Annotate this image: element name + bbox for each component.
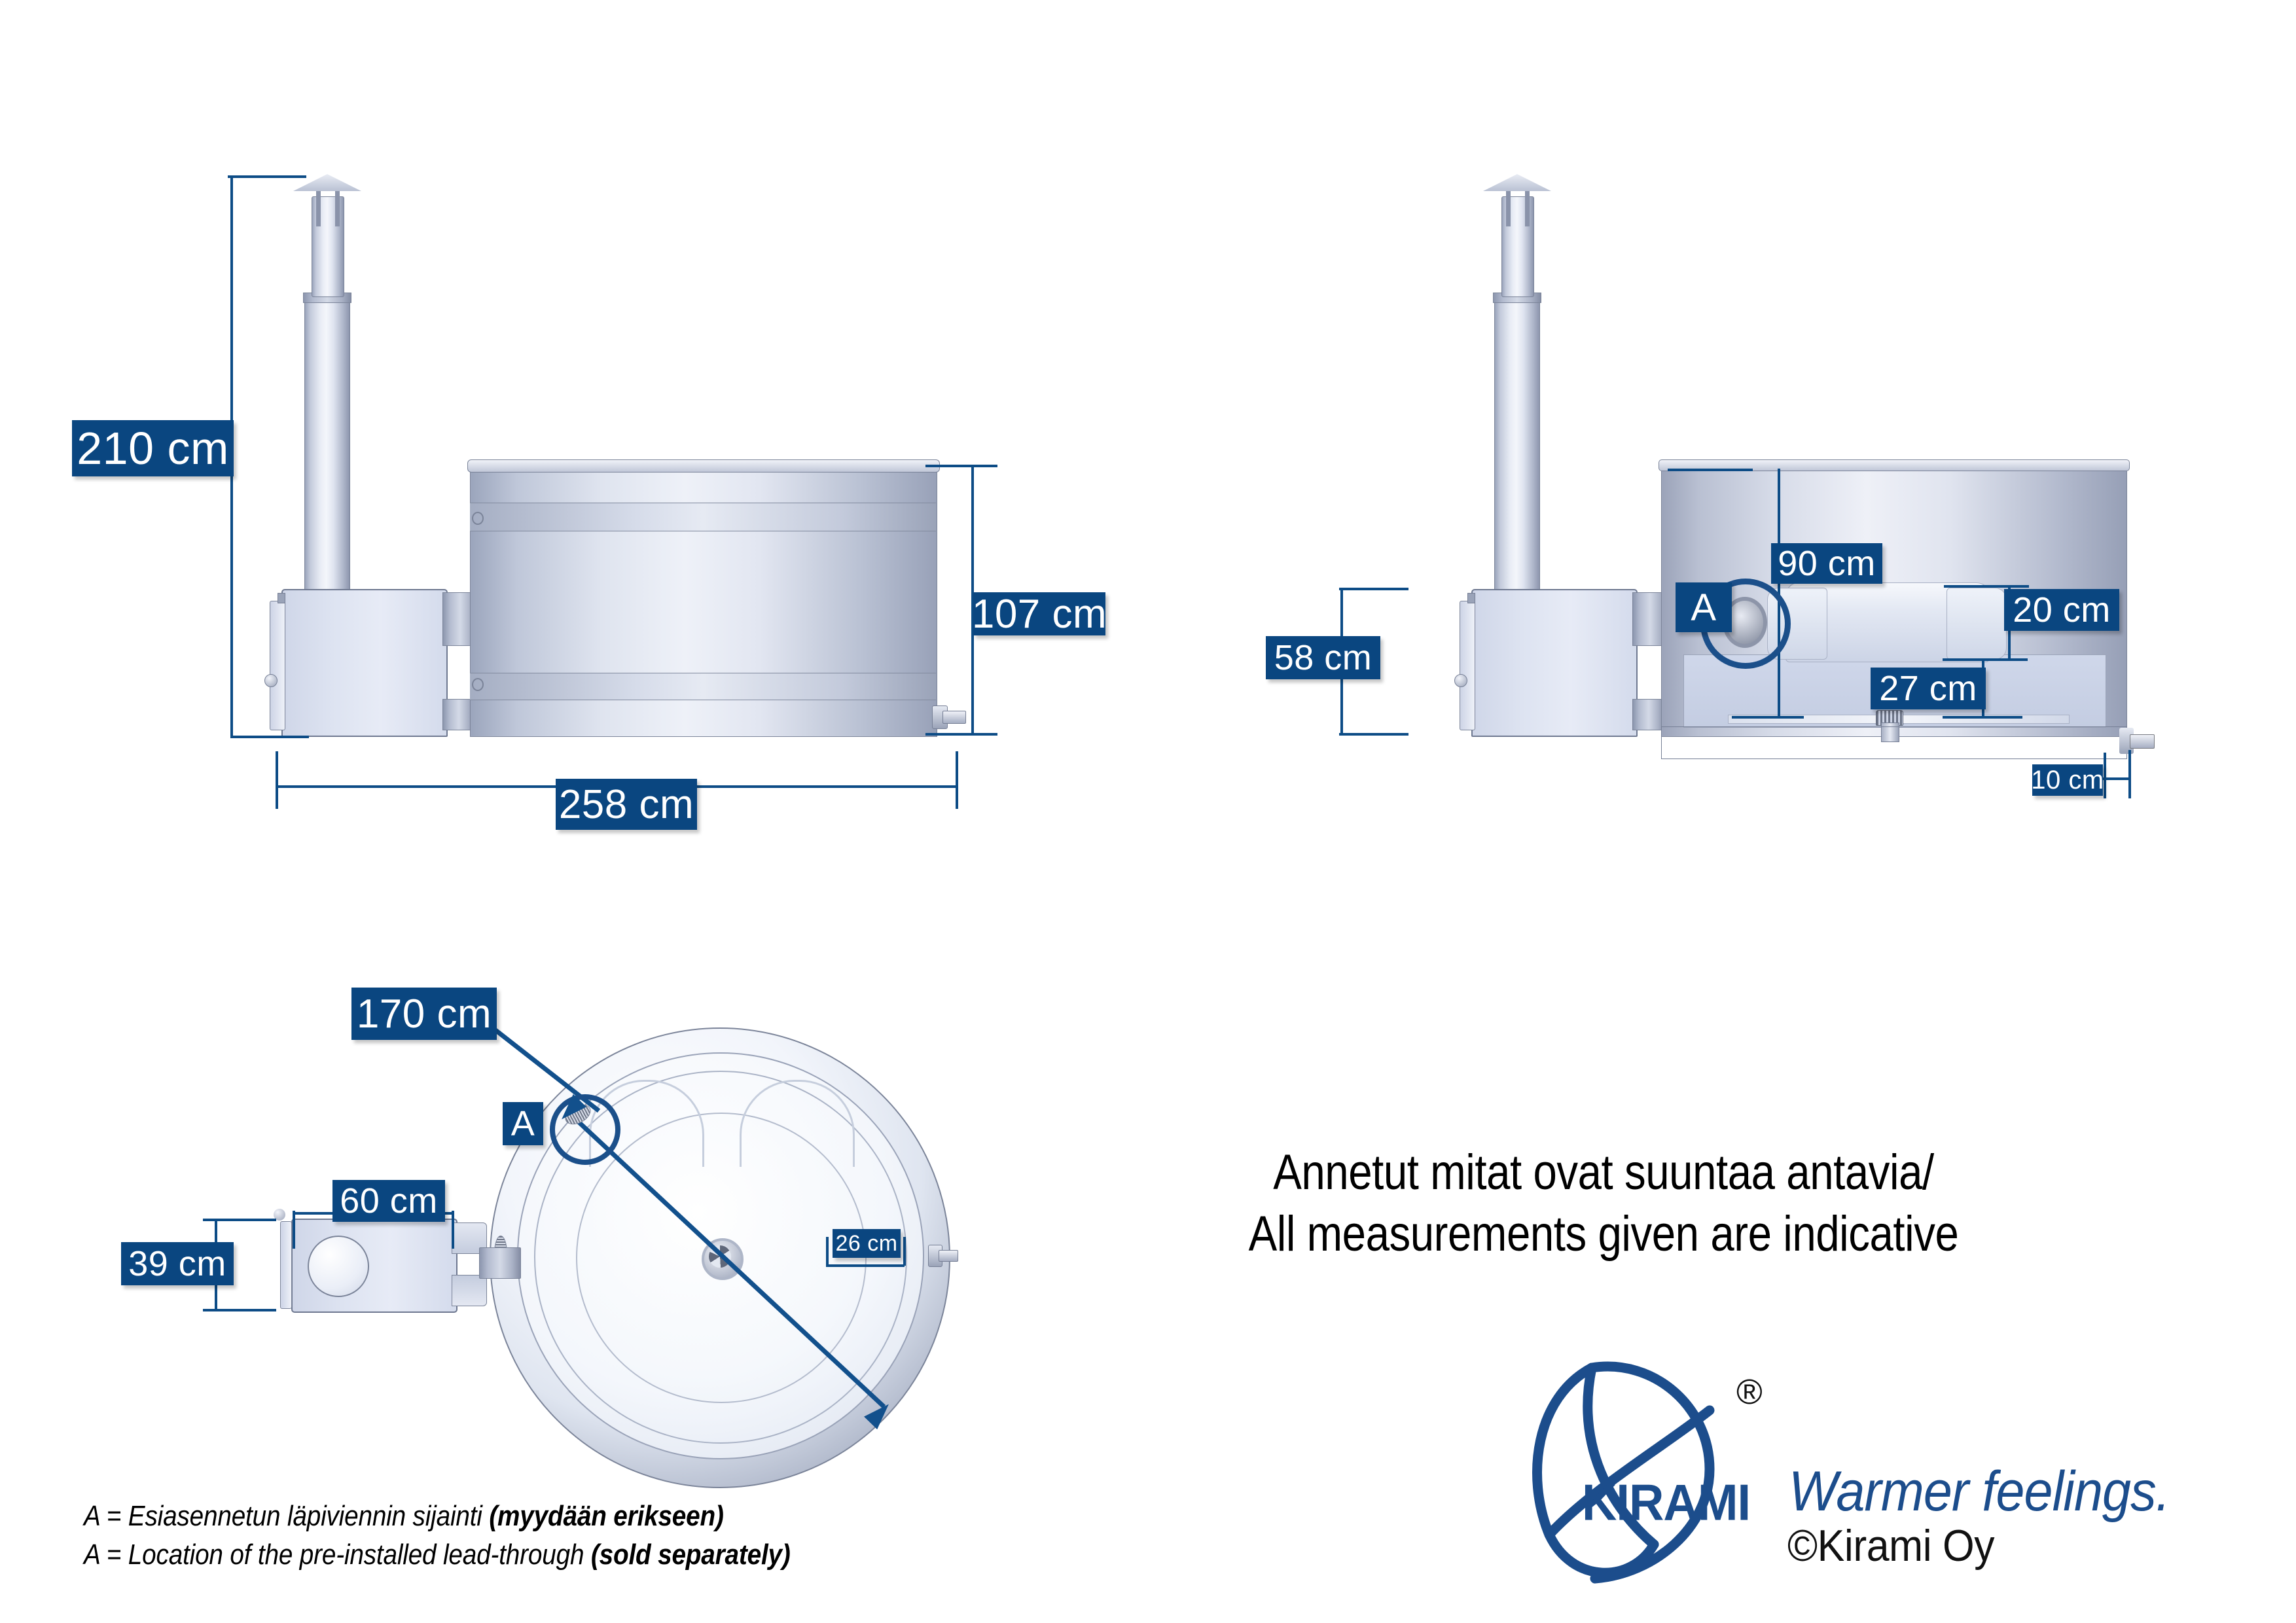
dim-26-left-ext	[826, 1237, 829, 1266]
section-heater-firebox	[1471, 589, 1638, 737]
plan-connecting-pipe	[479, 1247, 521, 1279]
tub-band-fastener-bottom	[472, 678, 484, 691]
drawing-canvas: 210 cm 107 cm 258 cm	[0, 0, 2296, 1623]
heater-top-pin	[278, 593, 285, 603]
legend-fi-text: A = Esiasennetun läpiviennin sijainti	[84, 1500, 489, 1532]
legend-block: A = Esiasennetun läpiviennin sijainti (m…	[84, 1497, 948, 1575]
dim-90-bottom-tick	[1732, 716, 1804, 719]
legend-en-text: A = Location of the pre-installed lead-t…	[84, 1539, 591, 1571]
dim-39-label: 39 cm	[121, 1242, 234, 1285]
plan-right-spout	[939, 1250, 958, 1262]
dim-20-top-tick	[1944, 585, 2029, 588]
dim-170-label: 170 cm	[351, 988, 497, 1040]
dim-27-label: 27 cm	[1871, 668, 1986, 709]
dim-60-label: 60 cm	[332, 1180, 445, 1222]
tub-band-fastener-top	[472, 512, 484, 525]
legend-fi-bold: (myydään erikseen)	[489, 1500, 723, 1532]
dim-10-baseline	[2102, 777, 2131, 780]
dim-258-right-ext	[956, 751, 958, 809]
kirami-loop-icon: KIRAMI	[1513, 1348, 1775, 1584]
dim-107-bottom-tick	[925, 733, 997, 736]
kirami-wordmark-text: KIRAMI	[1582, 1474, 1750, 1531]
kirami-logo: KIRAMI	[1513, 1348, 1775, 1584]
dim-26-right-ext	[903, 1237, 906, 1266]
heater-door-handle	[264, 674, 278, 687]
dim-20-bottom-tick	[1943, 658, 2028, 661]
section-chimney-lower-pipe	[1494, 294, 1540, 603]
section-base-plinth	[1661, 726, 2127, 759]
heater-firebox	[281, 589, 448, 737]
tub-top-rim	[467, 459, 940, 473]
marker-a-plan-label: A	[503, 1102, 543, 1145]
plan-heater-side-plate	[280, 1221, 292, 1309]
plan-heater-circle-window	[308, 1236, 369, 1297]
dim-60-right-ext	[452, 1211, 454, 1249]
legend-line-en: A = Location of the pre-installed lead-t…	[84, 1536, 948, 1575]
indicative-note: Annetut mitat ovat suuntaa antavia/ All …	[1175, 1142, 2031, 1265]
dim-10-label: 10 cm	[2032, 764, 2103, 796]
dim-20-label: 20 cm	[2004, 589, 2119, 631]
dim-60-left-ext	[293, 1211, 295, 1249]
dim-26-baseline	[826, 1264, 905, 1267]
section-heater-door-handle	[1454, 674, 1467, 687]
dim-258-label: 258 cm	[556, 779, 697, 830]
section-seat-right-wing	[1946, 588, 2007, 660]
section-heater-door-panel	[1460, 601, 1475, 730]
section-chimney-rain-cap	[1483, 174, 1551, 191]
plan-heater-bracket-bottom	[452, 1275, 487, 1306]
dim-90-top-tick	[1668, 469, 1753, 471]
tub-lower-band	[470, 673, 936, 700]
dim-39-bottom-tick	[203, 1309, 276, 1311]
dim-27-bottom-tick	[1943, 716, 2022, 719]
dim-210-label: 210 cm	[72, 420, 234, 476]
tub-upper-band	[470, 503, 936, 531]
legend-en-bold: (sold separately)	[591, 1539, 791, 1571]
dim-107-top-tick	[925, 465, 997, 467]
legend-line-fi: A = Esiasennetun läpiviennin sijainti (m…	[84, 1497, 948, 1536]
section-heater-top-pin	[1467, 593, 1475, 603]
section-heater-lower-connector	[1632, 699, 1665, 730]
dim-39-top-tick	[203, 1219, 276, 1221]
dim-90-label: 90 cm	[1771, 543, 1882, 584]
tub-drain-spout	[942, 711, 966, 724]
dim-10-right-ext	[2128, 750, 2131, 798]
note-line-fi: Annetut mitat ovat suuntaa antavia/	[1175, 1142, 2031, 1204]
dim-210-top-tick	[228, 175, 306, 178]
dim-58-top-tick	[1339, 588, 1408, 590]
dim-26-label: 26 cm	[833, 1229, 901, 1258]
registered-trademark-icon: ®	[1736, 1372, 1763, 1412]
dim-58-bottom-tick	[1339, 733, 1408, 736]
section-outlet-spout	[2130, 734, 2155, 749]
heater-door-panel	[270, 601, 285, 730]
note-line-en: All measurements given are indicative	[1175, 1204, 2031, 1265]
dim-210-bottom-tick	[230, 736, 309, 738]
dim-258-left-ext	[276, 751, 278, 809]
marker-a-section-label: A	[1676, 582, 1732, 632]
chimney-lower-pipe	[304, 294, 350, 603]
copyright-line: ©Kirami Oy	[1787, 1520, 1994, 1571]
dim-58-label: 58 cm	[1266, 636, 1380, 679]
dim-107-label: 107 cm	[973, 592, 1105, 635]
tagline: Warmer feelings.	[1789, 1459, 2170, 1524]
